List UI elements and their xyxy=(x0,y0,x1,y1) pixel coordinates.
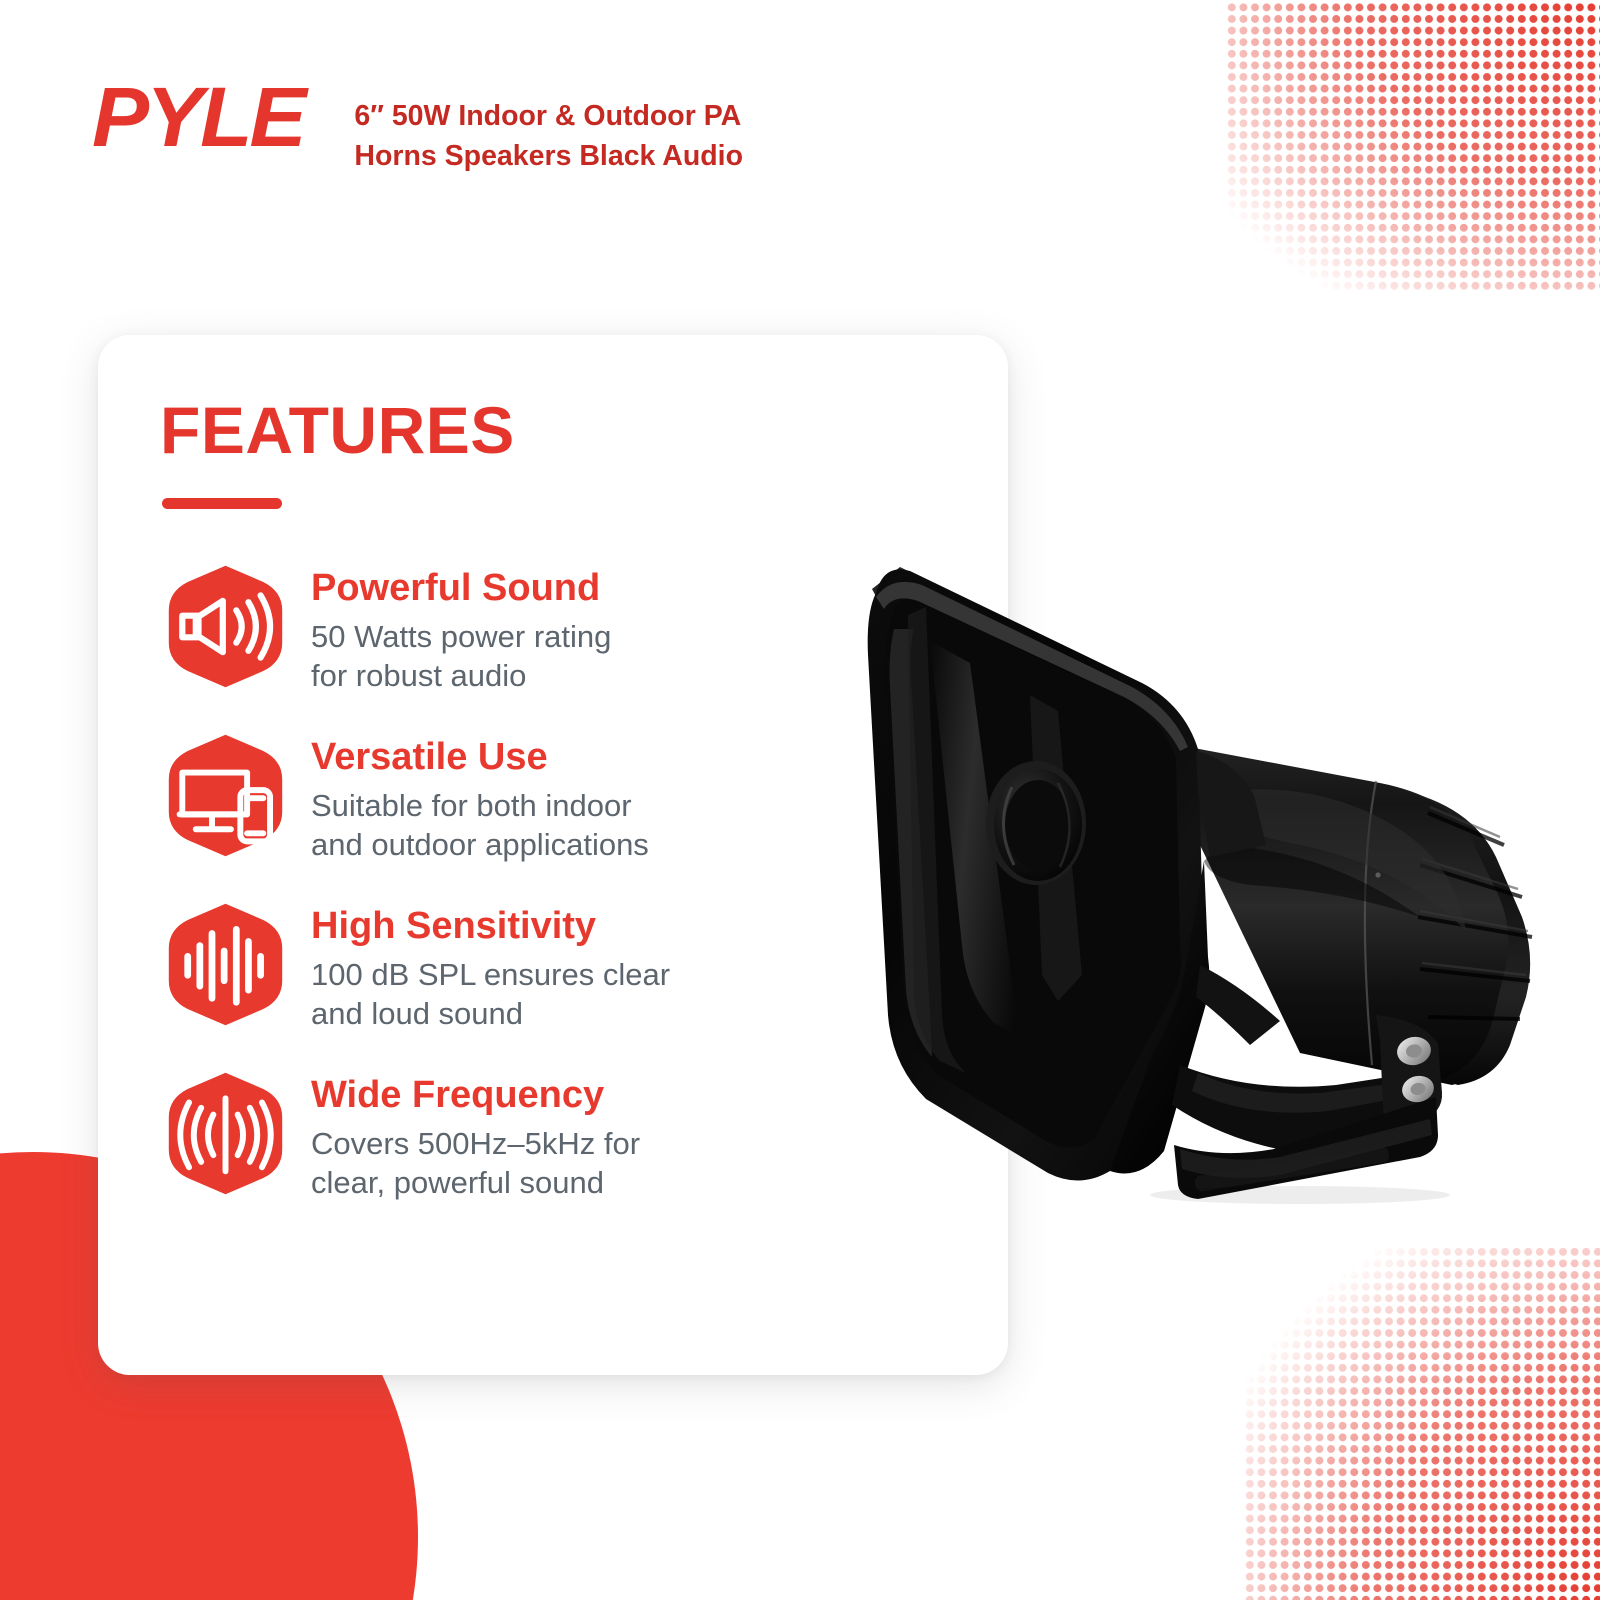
halftone-dots-top-right xyxy=(1226,0,1600,290)
features-heading: FEATURES xyxy=(160,397,515,463)
radio-waves-icon xyxy=(158,1066,293,1201)
monitor-phone-devices-icon xyxy=(158,728,293,863)
product-title-line-2: Horns Speakers Black Audio xyxy=(354,136,743,176)
feature-description: Covers 500Hz–5kHz for clear, powerful so… xyxy=(311,1124,640,1202)
feature-text: Wide Frequency Covers 500Hz–5kHz for cle… xyxy=(311,1062,640,1202)
product-image-pa-horn-speaker xyxy=(780,545,1590,1205)
feature-title: Powerful Sound xyxy=(311,569,611,609)
heading-underline xyxy=(162,498,282,509)
page-canvas: PYLE 6″ 50W Indoor & Outdoor PA Horns Sp… xyxy=(0,0,1600,1600)
feature-title: High Sensitivity xyxy=(311,907,670,947)
page-title: 6″ 50W Indoor & Outdoor PA Horns Speaker… xyxy=(354,96,743,177)
feature-title: Versatile Use xyxy=(311,738,649,778)
feature-text: Powerful Sound 50 Watts power rating for… xyxy=(311,555,611,695)
feature-description: 100 dB SPL ensures clear and loud sound xyxy=(311,955,670,1033)
feature-description: 50 Watts power rating for robust audio xyxy=(311,617,611,695)
feature-desc-line-1: Covers 500Hz–5kHz for xyxy=(311,1126,640,1161)
feature-desc-line-1: Suitable for both indoor xyxy=(311,788,632,823)
speaker-volume-icon xyxy=(158,559,293,694)
feature-description: Suitable for both indoor and outdoor app… xyxy=(311,786,649,864)
feature-desc-line-1: 50 Watts power rating xyxy=(311,619,611,654)
feature-title: Wide Frequency xyxy=(311,1076,640,1116)
feature-desc-line-2: and outdoor applications xyxy=(311,827,649,862)
page-header: PYLE 6″ 50W Indoor & Outdoor PA Horns Sp… xyxy=(92,78,743,177)
feature-desc-line-2: for robust audio xyxy=(311,658,526,693)
feature-text: High Sensitivity 100 dB SPL ensures clea… xyxy=(311,893,670,1033)
feature-desc-line-2: and loud sound xyxy=(311,996,523,1031)
product-title-line-1: 6″ 50W Indoor & Outdoor PA xyxy=(354,96,743,136)
feature-desc-line-2: clear, powerful sound xyxy=(311,1165,604,1200)
halftone-dots-bottom-right xyxy=(1244,1246,1600,1600)
pyle-brand-logo: PYLE xyxy=(92,78,304,158)
feature-desc-line-1: 100 dB SPL ensures clear xyxy=(311,957,670,992)
audio-waveform-bars-icon xyxy=(158,897,293,1032)
feature-text: Versatile Use Suitable for both indoor a… xyxy=(311,724,649,864)
